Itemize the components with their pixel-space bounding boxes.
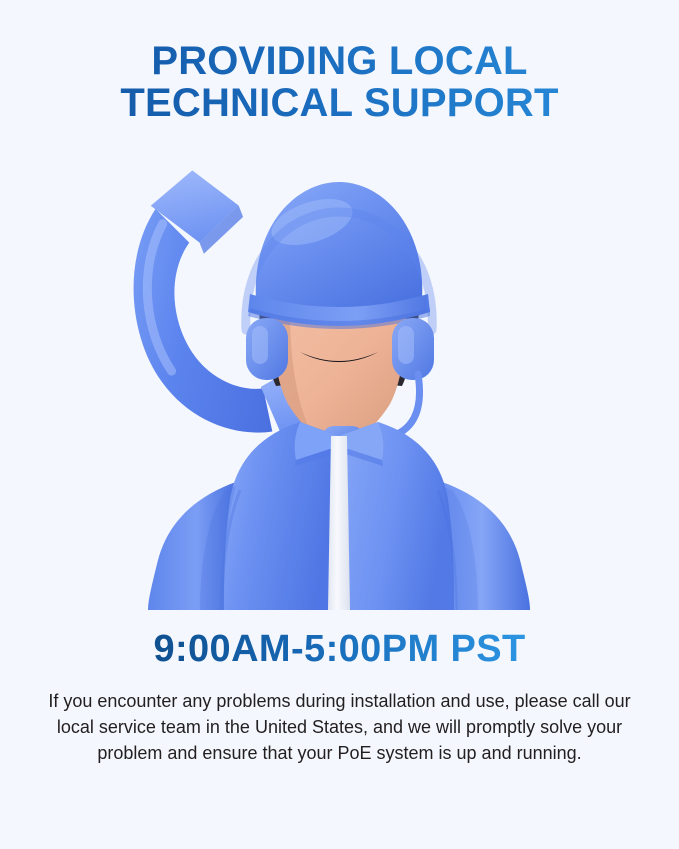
page-title-line-1: PROVIDING LOCAL bbox=[0, 40, 679, 82]
poster-canvas: PROVIDING LOCAL TECHNICAL SUPPORT bbox=[0, 0, 679, 849]
support-description: If you encounter any problems during ins… bbox=[40, 688, 639, 766]
support-description-text: If you encounter any problems during ins… bbox=[40, 688, 639, 766]
page-title: PROVIDING LOCAL TECHNICAL SUPPORT bbox=[0, 40, 679, 124]
jacket-placket bbox=[328, 436, 350, 610]
headset-earcup-left bbox=[246, 318, 288, 380]
page-title-line-2: TECHNICAL SUPPORT bbox=[0, 82, 679, 124]
service-hours: 9:00AM-5:00PM PST bbox=[0, 628, 679, 671]
headset-earcup-right bbox=[392, 318, 434, 380]
support-illustration bbox=[0, 160, 679, 610]
service-hours-text: 9:00AM-5:00PM PST bbox=[153, 628, 525, 670]
